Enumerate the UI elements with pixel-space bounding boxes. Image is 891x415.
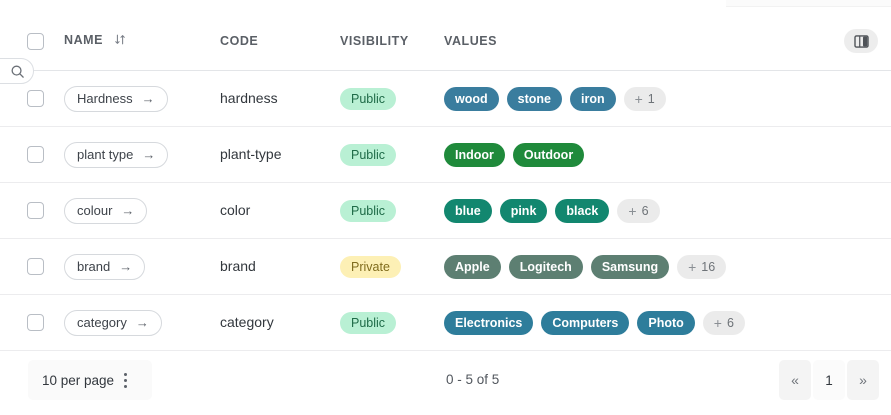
cell-name: colour→ — [64, 198, 220, 224]
name-chip-link[interactable]: plant type→ — [64, 142, 168, 168]
arrow-right-icon: → — [121, 204, 134, 217]
per-page-selector[interactable]: 10 per page — [28, 360, 152, 400]
value-tag[interactable]: Indoor — [444, 143, 505, 167]
cell-values: woodstoneiron+1 — [444, 87, 831, 111]
row-select-cell — [0, 314, 64, 331]
value-tag[interactable]: stone — [507, 87, 562, 111]
cell-name: category→ — [64, 310, 220, 336]
visibility-status-badge: Private — [340, 256, 401, 278]
row-checkbox[interactable] — [27, 146, 44, 163]
row-select-cell — [0, 202, 64, 219]
cell-visibility: Public — [340, 88, 444, 110]
name-chip-link[interactable]: colour→ — [64, 198, 147, 224]
value-tag-list: ElectronicsComputersPhoto+6 — [444, 311, 831, 335]
value-tag[interactable]: Computers — [541, 311, 629, 335]
plus-icon: + — [635, 92, 643, 106]
value-tag-list: bluepinkblack+6 — [444, 199, 831, 223]
cell-code: category — [220, 314, 340, 332]
more-values-count: 6 — [727, 316, 734, 330]
more-values-count: 1 — [648, 92, 655, 106]
header-label-visibility: VISIBILITY — [340, 34, 409, 48]
columns-layout-icon[interactable] — [844, 29, 878, 53]
value-tag[interactable]: Logitech — [509, 255, 583, 279]
header-cell-name[interactable]: NAME — [64, 31, 220, 51]
value-tag[interactable]: Samsung — [591, 255, 669, 279]
table-footer: 10 per page 0 - 5 of 5 « 1 » — [0, 355, 891, 415]
search-icon — [10, 64, 25, 79]
row-checkbox[interactable] — [27, 202, 44, 219]
plus-icon: + — [714, 316, 722, 330]
cell-code: hardness — [220, 90, 340, 108]
more-values-chip[interactable]: +6 — [617, 199, 659, 223]
cell-visibility: Public — [340, 144, 444, 166]
name-chip-label: category — [77, 315, 127, 330]
sort-arrows-icon[interactable] — [114, 33, 127, 51]
table-header-row: NAME CODE VISIBILITY VALUES — [0, 22, 891, 60]
code-text: plant-type — [220, 146, 281, 162]
value-tag[interactable]: black — [555, 199, 609, 223]
header-label-code: CODE — [220, 34, 258, 48]
arrow-right-icon: → — [119, 260, 132, 273]
name-chip-link[interactable]: category→ — [64, 310, 162, 336]
table-row[interactable]: Hardness→hardnessPublicwoodstoneiron+1 — [0, 71, 891, 127]
arrow-right-icon: → — [142, 92, 155, 105]
value-tag[interactable]: blue — [444, 199, 492, 223]
cell-visibility: Private — [340, 256, 444, 278]
cell-name: brand→ — [64, 254, 220, 280]
code-text: brand — [220, 258, 256, 274]
cell-name: plant type→ — [64, 142, 220, 168]
row-select-cell — [0, 258, 64, 275]
value-tag[interactable]: Photo — [637, 311, 694, 335]
kebab-menu-icon[interactable] — [124, 373, 127, 388]
more-values-chip[interactable]: +16 — [677, 255, 726, 279]
row-checkbox[interactable] — [27, 314, 44, 331]
result-range-text: 0 - 5 of 5 — [446, 372, 499, 387]
more-values-count: 16 — [701, 260, 715, 274]
cell-visibility: Public — [340, 200, 444, 222]
name-chip-label: brand — [77, 259, 110, 274]
row-checkbox[interactable] — [27, 90, 44, 107]
more-values-count: 6 — [642, 204, 649, 218]
value-tag[interactable]: pink — [500, 199, 548, 223]
table-row[interactable]: category→categoryPublicElectronicsComput… — [0, 295, 891, 351]
value-tag[interactable]: Outdoor — [513, 143, 584, 167]
value-tag[interactable]: Electronics — [444, 311, 533, 335]
header-cell-code[interactable]: CODE — [220, 32, 340, 50]
attributes-table-screen: NAME CODE VISIBILITY VALUES — [0, 0, 891, 415]
visibility-status-badge: Public — [340, 144, 396, 166]
table-body: Hardness→hardnessPublicwoodstoneiron+1pl… — [0, 71, 891, 351]
table-row[interactable]: brand→brandPrivateAppleLogitechSamsung+1… — [0, 239, 891, 295]
cell-values: bluepinkblack+6 — [444, 199, 831, 223]
header-label-name: NAME — [64, 33, 103, 47]
visibility-status-badge: Public — [340, 312, 396, 334]
value-tag[interactable]: iron — [570, 87, 616, 111]
select-all-checkbox[interactable] — [27, 33, 44, 50]
arrow-right-icon: → — [136, 316, 149, 329]
visibility-status-badge: Public — [340, 200, 396, 222]
table-row[interactable]: colour→colorPublicbluepinkblack+6 — [0, 183, 891, 239]
cell-values: AppleLogitechSamsung+16 — [444, 255, 831, 279]
header-tools-cell — [831, 29, 891, 53]
row-checkbox[interactable] — [27, 258, 44, 275]
code-text: color — [220, 202, 250, 218]
value-tag[interactable]: Apple — [444, 255, 501, 279]
more-values-chip[interactable]: +1 — [624, 87, 666, 111]
cell-code: brand — [220, 258, 340, 276]
row-select-cell — [0, 90, 64, 107]
name-chip-label: plant type — [77, 147, 133, 162]
cell-values: ElectronicsComputersPhoto+6 — [444, 311, 831, 335]
cell-values: IndoorOutdoor — [444, 143, 831, 167]
more-values-chip[interactable]: +6 — [703, 311, 745, 335]
value-tag-list: woodstoneiron+1 — [444, 87, 831, 111]
pagination-prev-button[interactable]: « — [779, 360, 811, 400]
name-chip-link[interactable]: Hardness→ — [64, 86, 168, 112]
row-select-cell — [0, 146, 64, 163]
cell-code: plant-type — [220, 146, 340, 164]
cell-code: color — [220, 202, 340, 220]
value-tag-list: IndoorOutdoor — [444, 143, 831, 167]
cell-name: Hardness→ — [64, 86, 220, 112]
visibility-status-badge: Public — [340, 88, 396, 110]
per-page-label: 10 per page — [42, 373, 114, 388]
plus-icon: + — [628, 204, 636, 218]
value-tag-list: AppleLogitechSamsung+16 — [444, 255, 831, 279]
header-select-all-cell — [0, 33, 64, 50]
arrow-right-icon: → — [142, 148, 155, 161]
cell-visibility: Public — [340, 312, 444, 334]
table-row[interactable]: plant type→plant-typePublicIndoorOutdoor — [0, 127, 891, 183]
name-chip-label: colour — [77, 203, 112, 218]
name-chip-link[interactable]: brand→ — [64, 254, 145, 280]
name-chip-label: Hardness — [77, 91, 133, 106]
plus-icon: + — [688, 260, 696, 274]
pagination: « 1 » — [779, 360, 879, 400]
code-text: category — [220, 314, 274, 330]
top-overflow-strip — [726, 0, 891, 7]
pagination-page-1[interactable]: 1 — [813, 360, 845, 400]
pagination-next-button[interactable]: » — [847, 360, 879, 400]
search-button[interactable] — [0, 58, 34, 84]
header-cell-values[interactable]: VALUES — [444, 32, 831, 50]
value-tag[interactable]: wood — [444, 87, 499, 111]
header-label-values: VALUES — [444, 34, 497, 48]
code-text: hardness — [220, 90, 278, 106]
header-cell-visibility[interactable]: VISIBILITY — [340, 32, 444, 50]
